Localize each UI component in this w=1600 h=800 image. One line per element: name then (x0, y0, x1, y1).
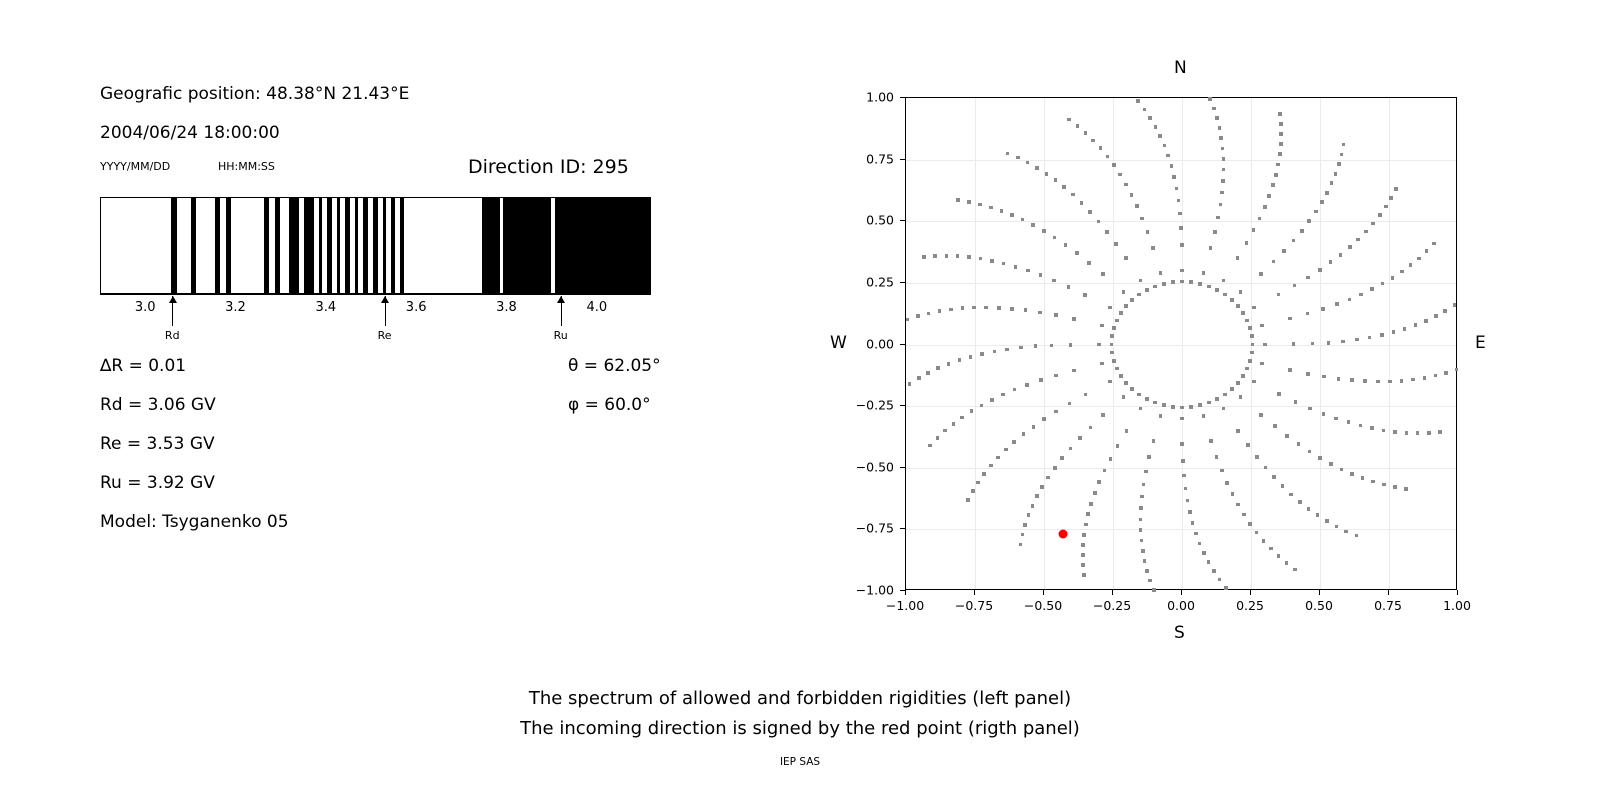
incoming-direction-point[interactable] (1059, 530, 1068, 539)
direction-dot (1091, 139, 1095, 143)
direction-dot (1124, 304, 1128, 308)
direction-dot (1139, 279, 1143, 283)
direction-dot (1236, 503, 1240, 507)
direction-dot (1394, 187, 1398, 191)
direction-dot (989, 206, 993, 210)
direction-dot (1148, 116, 1152, 120)
direction-dot (943, 429, 947, 433)
direction-dot (1378, 213, 1382, 217)
forbidden-band (171, 198, 177, 293)
direction-dot (1434, 374, 1438, 378)
direction-dot (1152, 588, 1156, 592)
direction-dot (1260, 324, 1264, 328)
direction-dot (1005, 348, 1009, 352)
direction-dot (1444, 371, 1448, 375)
direction-dot (1002, 262, 1006, 266)
direction-dot (1097, 343, 1101, 347)
direction-dot (1215, 397, 1219, 401)
direction-dot (1178, 212, 1182, 216)
direction-dot (1347, 420, 1351, 424)
direction-dot (1144, 470, 1148, 474)
direction-dot (1162, 282, 1166, 286)
direction-dot (1320, 200, 1324, 204)
direction-dot (1099, 146, 1103, 150)
direction-dot (1224, 586, 1228, 590)
forbidden-band (355, 198, 358, 293)
x-tick-mark (1250, 590, 1251, 595)
direction-dot (1427, 431, 1431, 435)
direction-dot (1252, 228, 1256, 232)
direction-dot (1382, 429, 1386, 433)
direction-dot (1194, 532, 1198, 536)
y-tick-label: −0.50 (834, 459, 894, 474)
direction-dot (1288, 317, 1292, 321)
datetime-label: 2004/06/24 18:00:00 (100, 123, 280, 143)
direction-dot (1172, 175, 1176, 179)
compass-label-south: S (1174, 623, 1185, 643)
direction-dot (1285, 434, 1289, 438)
forbidden-band (363, 198, 368, 293)
direction-dot (1054, 374, 1058, 378)
direction-dot (1163, 144, 1167, 148)
direction-dot (1010, 307, 1014, 311)
direction-dot (1110, 351, 1114, 355)
direction-dot (1045, 172, 1049, 176)
direction-dot (1370, 287, 1374, 291)
direction-dot (1101, 413, 1105, 417)
compass-label-north: N (1174, 58, 1187, 78)
direction-dot (1215, 288, 1219, 292)
y-tick-mark (900, 405, 905, 406)
direction-dot (1337, 377, 1341, 381)
direction-dot (1277, 554, 1281, 558)
direction-dot (1350, 378, 1354, 382)
direction-dot (938, 309, 942, 313)
direction-dot (1067, 285, 1071, 289)
direction-dot (1189, 405, 1193, 409)
direction-dot (1153, 401, 1157, 405)
direction-dot (1236, 381, 1240, 385)
gridline-vertical (1182, 98, 1183, 589)
direction-dot (1001, 393, 1005, 397)
direction-dot (1021, 218, 1025, 222)
direction-dot (1288, 368, 1292, 372)
direction-dot (1364, 230, 1368, 234)
direction-dot (1100, 324, 1104, 328)
direction-dot (1277, 392, 1281, 396)
direction-dot (1162, 403, 1166, 407)
direction-dot (1202, 271, 1206, 275)
x-tick-mark (1457, 590, 1458, 595)
direction-dot (916, 314, 920, 318)
geographic-position-label: Geografic position: 48.38°N 21.43°E (100, 84, 409, 104)
spectrum-tick-label: 3.4 (315, 300, 336, 315)
direction-dot (1230, 387, 1234, 391)
gridline-vertical (1320, 98, 1321, 589)
direction-dot (1348, 245, 1352, 249)
direction-dot (1434, 314, 1438, 318)
rigidity-spectrum-bar (100, 197, 651, 294)
direction-dot (1135, 204, 1139, 208)
direction-dot (1276, 163, 1280, 167)
direction-dot (958, 358, 962, 362)
direction-dot (933, 254, 937, 258)
direction-dot (1292, 239, 1296, 243)
direction-dot (1355, 534, 1359, 538)
direction-dot (1158, 134, 1162, 138)
direction-dot (1263, 205, 1267, 209)
direction-dot (1060, 456, 1064, 460)
direction-dot (1248, 326, 1252, 330)
direction-dot (1180, 269, 1184, 273)
direction-dot (1130, 193, 1134, 197)
direction-dot (1222, 279, 1226, 283)
direction-dot (1068, 402, 1072, 406)
direction-dot (1239, 290, 1243, 294)
direction-dot (990, 259, 994, 263)
direction-dot (1455, 368, 1459, 372)
y-tick-mark (900, 159, 905, 160)
direction-dot (1279, 132, 1283, 136)
direction-dot (1136, 99, 1140, 103)
direction-dot (906, 318, 910, 322)
direction-dot (1322, 412, 1326, 416)
direction-dot (1042, 229, 1046, 233)
direction-dot (1145, 569, 1149, 573)
direction-dot (1188, 510, 1192, 514)
direction-dot (979, 257, 983, 261)
spectrum-marker-label: Rd (165, 329, 180, 342)
direction-dot (1026, 161, 1030, 165)
direction-dot (989, 464, 993, 468)
direction-dot (1417, 257, 1421, 261)
direction-dot (1118, 173, 1122, 177)
x-tick-label: −1.00 (886, 598, 924, 613)
direction-dot (961, 306, 965, 310)
direction-dot (1093, 491, 1097, 495)
direction-dot (1294, 400, 1298, 404)
direction-dot (1146, 230, 1150, 234)
direction-dot (1124, 183, 1128, 187)
direction-dot (1153, 285, 1157, 289)
direction-dot (1034, 344, 1038, 348)
direction-dot (1072, 317, 1076, 321)
direction-dot (1300, 229, 1304, 233)
direction-dot (1308, 407, 1312, 411)
footer-credit: IEP SAS (0, 756, 1600, 768)
direction-dot (1154, 125, 1158, 129)
direction-dot (1122, 395, 1126, 399)
direction-dot (1231, 492, 1235, 496)
direction-dot (1322, 375, 1326, 379)
direction-dot (1250, 334, 1254, 338)
direction-dot (1189, 280, 1193, 284)
direction-dot (1325, 519, 1329, 523)
direction-dot (947, 362, 951, 366)
rigidity-spectrum-panel: Geografic position: 48.38°N 21.43°E 2004… (0, 0, 800, 800)
direction-dot (1081, 543, 1085, 547)
direction-dot (1255, 531, 1259, 535)
direction-dot (1241, 311, 1245, 315)
direction-dot (1122, 290, 1126, 294)
x-tick-mark (1388, 590, 1389, 595)
direction-dot (1335, 525, 1339, 529)
direction-dot (1108, 380, 1112, 384)
direction-dot (1218, 126, 1222, 130)
direction-dot (1329, 462, 1333, 466)
direction-dot (927, 312, 931, 316)
direction-dot (969, 355, 973, 359)
direction-dot (1053, 466, 1057, 470)
direction-dot (972, 306, 976, 310)
direction-dot (1289, 493, 1293, 497)
direction-dot (956, 254, 960, 258)
direction-dot (1208, 97, 1212, 101)
direction-dot (1355, 338, 1359, 342)
x-tick-mark (905, 590, 906, 595)
y-tick-label: 0.50 (834, 213, 894, 228)
direction-dot (1071, 193, 1075, 197)
direction-dot (970, 409, 974, 413)
direction-scatter-panel: −1.00−0.75−0.50−0.250.000.250.500.751.00… (800, 0, 1600, 800)
direction-dot (1321, 307, 1325, 311)
direction-dot (990, 398, 994, 402)
direction-dot (1202, 414, 1206, 418)
forbidden-band (226, 198, 231, 293)
direction-dot (1064, 243, 1068, 247)
forbidden-band (304, 198, 314, 293)
direction-dot (1052, 279, 1056, 283)
direction-dot (1152, 439, 1156, 443)
direction-dot (1179, 226, 1183, 230)
direction-dot (1088, 210, 1092, 214)
direction-dot (949, 308, 953, 312)
direction-dot (1277, 293, 1281, 297)
direction-dot (1181, 459, 1185, 463)
direction-dot (1389, 196, 1393, 200)
direction-dot (1042, 417, 1046, 421)
direction-dot (1180, 406, 1184, 410)
direction-dot (1110, 343, 1114, 347)
arrow-head-icon (557, 296, 565, 303)
direction-dot (1145, 288, 1149, 292)
direction-dot (1089, 502, 1093, 506)
direction-dot (1013, 388, 1017, 392)
direction-dot (1329, 260, 1333, 264)
direction-dot (1083, 293, 1087, 297)
caption-line-1: The spectrum of allowed and forbidden ri… (0, 688, 1600, 709)
scatter-plot-area (905, 97, 1457, 590)
direction-dot (1130, 387, 1134, 391)
direction-dot (956, 198, 960, 202)
direction-dot (1180, 243, 1184, 247)
direction-dot (1273, 424, 1277, 428)
forbidden-band (373, 198, 378, 293)
direction-dot (1438, 430, 1442, 434)
direction-dot (1040, 485, 1044, 489)
forbidden-band (555, 198, 651, 293)
direction-dot (1216, 216, 1220, 220)
direction-dot (1363, 379, 1367, 383)
forbidden-band (289, 198, 299, 293)
direction-dot (1281, 484, 1285, 488)
direction-dot (966, 498, 970, 502)
direction-dot (1101, 272, 1105, 276)
x-tick-mark (1319, 590, 1320, 595)
direction-dot (1035, 166, 1039, 170)
direction-dot (1221, 179, 1225, 183)
direction-dot (1259, 272, 1263, 276)
direction-dot (1171, 280, 1175, 284)
x-tick-mark (1181, 590, 1182, 595)
direction-dot (1212, 569, 1216, 573)
direction-dot (1184, 487, 1188, 491)
direction-dot (1267, 194, 1271, 198)
direction-dot (1400, 270, 1404, 274)
direction-dot (1119, 374, 1123, 378)
forbidden-band (391, 198, 394, 293)
direction-dot (967, 255, 971, 259)
direction-dot (952, 422, 956, 426)
direction-dot (936, 366, 940, 370)
direction-dot (1403, 327, 1407, 331)
direction-dot (1223, 393, 1227, 397)
direction-dot (1024, 308, 1028, 312)
direction-dot (1251, 343, 1255, 347)
direction-dot (1306, 276, 1310, 280)
y-tick-label: 0.25 (834, 274, 894, 289)
direction-dot (1279, 142, 1283, 146)
direction-dot (1014, 265, 1018, 269)
direction-dot (1087, 261, 1091, 265)
direction-dot (996, 456, 1000, 460)
direction-dot (1278, 152, 1282, 156)
direction-dot (1075, 251, 1079, 255)
direction-dot (1032, 425, 1036, 429)
x-tick-label: 1.00 (1443, 598, 1471, 613)
direction-dot (1230, 298, 1234, 302)
direction-dot (1272, 475, 1276, 479)
direction-dot (1340, 153, 1344, 157)
direction-dot (1263, 343, 1267, 347)
direction-dot (1416, 431, 1420, 435)
direction-dot (1140, 539, 1144, 543)
direction-dot (1393, 430, 1397, 434)
direction-dot (1145, 397, 1149, 401)
direction-dot (1198, 403, 1202, 407)
direction-dot (1341, 340, 1345, 344)
direction-dot (1019, 543, 1023, 547)
direction-dot (1151, 246, 1155, 250)
direction-dot (1223, 293, 1227, 297)
x-tick-label: 0.75 (1374, 598, 1402, 613)
direction-dot (1166, 154, 1170, 158)
direction-dot (1114, 242, 1118, 246)
direction-dot (1393, 485, 1397, 489)
direction-dot (1318, 268, 1322, 272)
direction-dot (1016, 156, 1020, 160)
direction-dot (1307, 507, 1311, 511)
direction-dot (1334, 417, 1338, 421)
direction-dot (1021, 533, 1025, 537)
direction-dot (1109, 457, 1113, 461)
spectrum-marker-ru (561, 296, 562, 326)
spectrum-tick-label: 3.2 (225, 300, 246, 315)
direction-dot (1225, 481, 1229, 485)
direction-dot (1148, 579, 1152, 583)
direction-dot (1067, 118, 1071, 122)
direction-dot (1219, 203, 1223, 207)
direction-dot (1207, 285, 1211, 289)
direction-dot (1019, 346, 1023, 350)
direction-dot (1054, 410, 1058, 414)
direction-dot (1171, 405, 1175, 409)
direction-dot (1424, 319, 1428, 323)
compass-label-west: W (830, 333, 847, 353)
direction-dot (1143, 559, 1147, 563)
direction-dot (1236, 304, 1240, 308)
direction-dot (1026, 269, 1030, 273)
y-tick-mark (900, 97, 905, 98)
time-format-hint: HH:MM:SS (218, 160, 275, 173)
direction-dot (1209, 439, 1213, 443)
direction-dot (1356, 238, 1360, 242)
compass-label-east: E (1475, 333, 1486, 353)
direction-dot (1222, 157, 1226, 161)
direction-dot (1023, 523, 1027, 527)
direction-dot (1370, 426, 1374, 430)
x-tick-label: 0.00 (1167, 598, 1195, 613)
direction-dot (1147, 455, 1151, 459)
direction-dot (926, 371, 930, 375)
spectrum-marker-rd (172, 296, 173, 326)
forbidden-band (345, 198, 350, 293)
x-tick-label: 0.25 (1236, 598, 1264, 613)
direction-dot (1082, 573, 1086, 577)
direction-dot (1339, 253, 1343, 257)
spectrum-tick-label: 4.0 (586, 300, 607, 315)
forbidden-band (383, 198, 386, 293)
direction-dot (1368, 336, 1372, 340)
spectrum-tick-label: 3.6 (406, 300, 427, 315)
x-tick-mark (1112, 590, 1113, 595)
direction-dot (1182, 474, 1186, 478)
y-tick-mark (900, 528, 905, 529)
direction-dot (1110, 334, 1114, 338)
direction-dot (1212, 107, 1216, 111)
spectrum-tick-label: 3.0 (135, 300, 156, 315)
direction-dot (1252, 380, 1256, 384)
param-phi: φ = 60.0° (568, 395, 651, 415)
direction-dot (1180, 280, 1184, 284)
direction-dot (1054, 178, 1058, 182)
direction-dot (922, 255, 926, 259)
direction-dot (1297, 442, 1301, 446)
direction-dot (1186, 499, 1190, 503)
forbidden-band (319, 198, 322, 293)
direction-dot (1069, 343, 1073, 347)
y-tick-label: −0.25 (834, 398, 894, 413)
direction-dot (997, 306, 1001, 310)
x-tick-mark (1043, 590, 1044, 595)
direction-dot (1097, 220, 1101, 224)
direction-dot (1404, 487, 1408, 491)
direction-dot (980, 352, 984, 356)
x-tick-label: −0.50 (1024, 598, 1062, 613)
direction-dot (982, 472, 986, 476)
direction-dot (1432, 242, 1436, 246)
direction-dot (1112, 359, 1116, 363)
